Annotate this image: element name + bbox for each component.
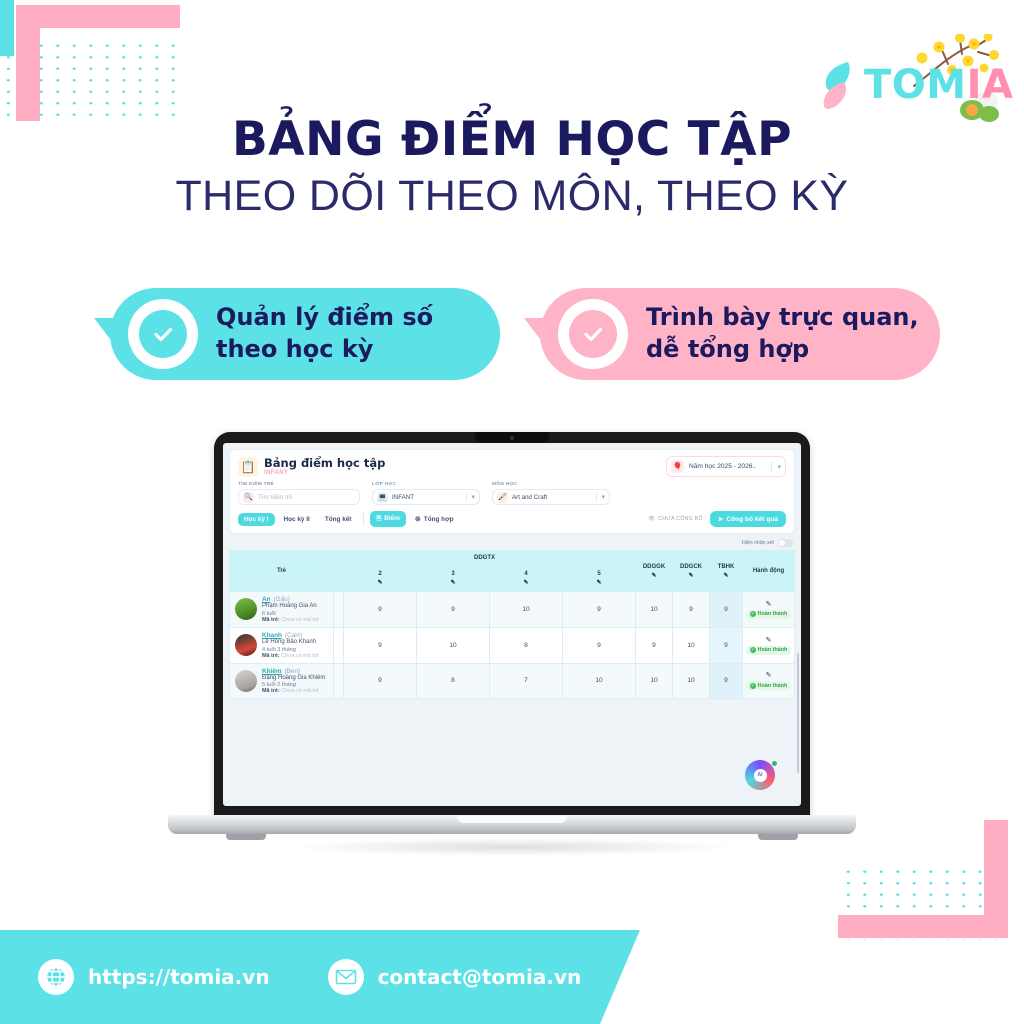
logo-wordmark: TOMIA	[864, 62, 1013, 108]
footer-email[interactable]: contact@tomia.vn	[328, 959, 582, 995]
score-cell-ddgtx-4[interactable]: 8	[490, 627, 563, 663]
child-alias: (Gấu)	[274, 596, 290, 603]
score-cell-ddgtx-2[interactable]: 9	[344, 592, 417, 628]
search-icon: 🔍	[243, 492, 254, 503]
eye-off-icon: 👁	[648, 516, 655, 522]
score-cell-ddgck[interactable]: 9	[673, 592, 710, 628]
col-header-ddgtx-4: 4 ✎	[490, 566, 563, 592]
decor-bar-bottom-horizontal	[838, 915, 1008, 938]
laptop-foot-left	[226, 834, 266, 840]
score-cell-ddgtx-4[interactable]: 10	[490, 592, 563, 628]
calendar-icon: 🎈	[671, 460, 684, 473]
footer-website-text: https://tomia.vn	[88, 965, 270, 989]
score-cell-ddgtx-3[interactable]: 10	[417, 627, 490, 663]
status-badge-label: Hoàn thành	[758, 611, 788, 617]
filter-row: TÌM KIẾM TRẺ 🔍 Tìm kiếm trẻ LỚP HỌC 💻 IN…	[238, 482, 786, 505]
decor-bar-top-horizontal	[16, 5, 180, 28]
edit-icon[interactable]: ✎	[638, 572, 670, 579]
check-circle-icon: ✓	[750, 647, 756, 653]
child-code-value: Chưa có mã trẻ	[281, 688, 318, 694]
logo-text-part2: IA	[967, 62, 1014, 108]
score-cell-clipped[interactable]	[334, 592, 344, 628]
show-comments-row: Hiện nhận xét	[229, 539, 793, 547]
score-cell-ddgck[interactable]: 10	[673, 663, 710, 699]
laptop-lid: 📋 Bảng điểm học tập INFANT 🎈 Năm học 202…	[214, 432, 810, 822]
check-badge-2	[558, 299, 628, 369]
class-select[interactable]: 💻 INFANT ▾	[372, 489, 480, 505]
laptop-foot-right	[758, 834, 798, 840]
edit-icon[interactable]: ✎	[712, 572, 740, 579]
child-nickname-row: An(Gấu)	[262, 596, 319, 603]
tab-divider	[363, 513, 364, 525]
show-comments-toggle[interactable]	[778, 539, 793, 547]
child-cell: Khanh(Cam) Lê Hồng Bảo Khanh 4 tuổi 3 th…	[230, 627, 334, 663]
score-cell-ddgtx-3[interactable]: 9	[417, 592, 490, 628]
action-cell: ✎ ✓ Hoàn thành	[743, 592, 795, 628]
subject-select-value: Art and Craft	[512, 494, 592, 501]
status-badge-label: Hoàn thành	[758, 683, 788, 689]
edit-icon[interactable]: ✎	[745, 636, 792, 644]
grade-table-head: Trẻ DDGTX DDGGK ✎ DDGCK ✎ TBHK	[230, 551, 795, 592]
score-cell-ddggk[interactable]: 10	[636, 663, 673, 699]
decor-teal-accent-top-left	[0, 0, 14, 56]
table-row[interactable]: An(Gấu) Phạm Hoàng Gia An 6 tuổi Mã trẻ:…	[230, 592, 795, 628]
publish-button-label: Công bố kết quả	[726, 516, 778, 523]
app-window: 📋 Bảng điểm học tập INFANT 🎈 Năm học 202…	[223, 443, 801, 705]
filter-label-class: LỚP HỌC	[372, 482, 480, 487]
feature-2-line1: Trình bày trực quan,	[646, 302, 919, 334]
select-divider	[596, 492, 597, 502]
app-header-row: 📋 Bảng điểm học tập INFANT 🎈 Năm học 202…	[238, 456, 786, 477]
laptop-base	[168, 815, 856, 834]
avatar	[235, 670, 257, 692]
app-header-card: 📋 Bảng điểm học tập INFANT 🎈 Năm học 202…	[229, 449, 795, 534]
score-cell-ddggk[interactable]: 9	[636, 627, 673, 663]
tab-summary-final[interactable]: Tổng kết	[319, 513, 358, 526]
clipboard-icon: 📋	[238, 457, 258, 477]
col-header-ddgck: DDGCK ✎	[673, 551, 710, 592]
filter-subject: MÔN HỌC 🖌 Art and Craft ▾	[492, 482, 610, 505]
child-nickname-link[interactable]: An	[262, 596, 271, 603]
footer-email-text: contact@tomia.vn	[378, 965, 582, 989]
child-code-label: Mã trẻ:	[262, 653, 280, 659]
feature-pill-1: Quản lý điểm số theo học kỳ	[110, 288, 500, 380]
col-header-ddgtx-2-label: 2	[378, 571, 381, 577]
score-cell-clipped[interactable]	[334, 663, 344, 699]
pill-tail-1	[94, 318, 120, 352]
score-cell-ddgtx-5[interactable]: 9	[563, 627, 636, 663]
class-select-value: INFANT	[392, 494, 462, 501]
col-header-ddgtx-5-label: 5	[597, 571, 600, 577]
status-badge: ✓ Hoàn thành	[746, 610, 792, 619]
mail-icon	[328, 959, 364, 995]
tab-bar: Học kỳ I Học kỳ II Tổng kết Điểm Tổng hợ…	[238, 511, 460, 527]
chevron-down-icon[interactable]: ▾	[471, 493, 475, 501]
school-year-select[interactable]: 🎈 Năm học 2025 - 2026.. ▾	[666, 456, 786, 477]
child-nickname-row: Khanh(Cam)	[262, 632, 319, 639]
show-comments-label: Hiện nhận xét	[742, 540, 774, 546]
feature-2-line2: dễ tổng hợp	[646, 334, 919, 366]
table-header-row-1: Trẻ DDGTX DDGGK ✎ DDGCK ✎ TBHK	[230, 551, 795, 566]
col-header-ddggk-label: DDGGK	[643, 564, 665, 570]
score-cell-ddgtx-3[interactable]: 8	[417, 663, 490, 699]
tab-and-publish-row: Học kỳ I Học kỳ II Tổng kết Điểm Tổng hợ…	[238, 511, 786, 527]
child-code-value: Chưa có mã trẻ	[281, 617, 318, 623]
col-header-ddgtx-5: 5 ✎	[563, 566, 636, 592]
col-header-tbhk-label: TBHK	[718, 564, 735, 570]
decor-bar-bottom-vertical	[984, 820, 1008, 938]
search-input-placeholder: Tìm kiếm trẻ	[258, 494, 292, 501]
col-header-tbhk: TBHK ✎	[710, 551, 743, 592]
vertical-scrollbar[interactable]	[797, 653, 800, 773]
score-cell-ddgtx-2[interactable]: 9	[344, 627, 417, 663]
check-circle-icon: ✓	[750, 611, 756, 617]
footer-website[interactable]: https://tomia.vn	[38, 959, 270, 995]
check-circle-icon: ✓	[750, 683, 756, 689]
score-cell-ddgtx-5[interactable]: 9	[563, 592, 636, 628]
headline-secondary: THEO DÕI THEO MÔN, THEO KỲ	[0, 172, 1024, 221]
child-code-label: Mã trẻ:	[262, 688, 280, 694]
filter-class: LỚP HỌC 💻 INFANT ▾	[372, 482, 480, 505]
avatar	[235, 634, 257, 656]
col-header-ddgtx-3-label: 3	[451, 571, 454, 577]
child-cell: Khiêm(Ben) Đặng Hoàng Gia Khiêm 5 tuổi 2…	[230, 663, 334, 699]
laptop-shadow	[288, 838, 738, 856]
child-nickname-link[interactable]: Khiêm	[262, 668, 282, 675]
child-nickname-row: Khiêm(Ben)	[262, 668, 325, 675]
tab-semester-1[interactable]: Học kỳ I	[238, 513, 275, 526]
child-cell: An(Gấu) Phạm Hoàng Gia An 6 tuổi Mã trẻ:…	[230, 592, 334, 628]
tab-aggregate[interactable]: Tổng hợp	[409, 512, 460, 526]
app-subtitle: INFANT	[264, 470, 385, 476]
chevron-down-icon[interactable]: ▾	[777, 463, 781, 471]
score-cell-ddgck[interactable]: 10	[673, 627, 710, 663]
publish-results-button[interactable]: ➤ Công bố kết quả	[710, 511, 786, 527]
subject-select[interactable]: 🖌 Art and Craft ▾	[492, 489, 610, 505]
col-header-ddgtx-3: 3 ✎	[417, 566, 490, 592]
child-nickname-link[interactable]: Khanh	[262, 632, 282, 639]
footer-bar: https://tomia.vn contact@tomia.vn	[0, 930, 1024, 1024]
check-icon-1	[139, 310, 187, 358]
col-header-ddgtx-2: 2 ✎	[344, 566, 417, 592]
score-cell-ddgtx-5[interactable]: 10	[563, 663, 636, 699]
decor-bar-top-vertical	[16, 5, 40, 121]
send-icon: ➤	[718, 515, 724, 523]
tab-semester-2[interactable]: Học kỳ II	[278, 513, 316, 526]
col-header-ddgtx-4-label: 4	[524, 571, 527, 577]
tab-scores[interactable]: Điểm	[370, 511, 405, 527]
edit-icon[interactable]: ✎	[565, 579, 633, 586]
child-code: Mã trẻ: Chưa có mã trẻ	[262, 653, 319, 659]
child-fullname: Lê Hồng Bảo Khanh	[262, 639, 319, 647]
score-cell-ddgtx-4[interactable]: 7	[490, 663, 563, 699]
feature-1-line1: Quản lý điểm số	[216, 302, 433, 334]
child-code-label: Mã trẻ:	[262, 617, 280, 623]
filter-label-subject: MÔN HỌC	[492, 482, 610, 487]
score-cell-ddgtx-2[interactable]: 9	[344, 663, 417, 699]
action-cell: ✎ ✓ Hoàn thành	[743, 663, 795, 699]
score-cell-tbhk: 9	[710, 663, 743, 699]
score-cell-ddggk[interactable]: 10	[636, 592, 673, 628]
logo-text-part1: TOM	[864, 62, 967, 108]
child-fullname: Phạm Hoàng Gia An	[262, 603, 319, 611]
child-alias: (Ben)	[285, 668, 301, 675]
edit-icon[interactable]: ✎	[346, 579, 414, 586]
child-code: Mã trẻ: Chưa có mã trẻ	[262, 688, 325, 694]
select-divider	[771, 462, 772, 472]
edit-icon[interactable]: ✎	[419, 579, 487, 586]
grade-table: Trẻ DDGTX DDGGK ✎ DDGCK ✎ TBHK	[229, 550, 795, 699]
feature-pill-2-text: Trình bày trực quan, dễ tổng hợp	[646, 302, 919, 365]
pill-tail-2	[524, 318, 550, 352]
school-year-value: Năm học 2025 - 2026..	[689, 463, 766, 470]
headline-primary: BẢNG ĐIỂM HỌC TẬP	[0, 112, 1024, 167]
status-badge: ✓ Hoàn thành	[746, 681, 792, 690]
col-header-ddggk: DDGGK ✎	[636, 551, 673, 592]
col-header-action: Hành động	[743, 551, 795, 592]
avatar	[235, 598, 257, 620]
publish-status-label: CHƯA CÔNG BỐ	[658, 516, 703, 522]
select-divider	[466, 492, 467, 502]
publish-row: 👁 CHƯA CÔNG BỐ ➤ Công bố kết quả	[648, 511, 786, 527]
edit-icon[interactable]: ✎	[492, 579, 560, 586]
laptop-notch-camera	[475, 432, 549, 443]
ai-assistant-button[interactable]	[745, 760, 775, 790]
status-badge: ✓ Hoàn thành	[746, 646, 792, 655]
ai-online-indicator	[772, 761, 777, 766]
feature-pill-1-text: Quản lý điểm số theo học kỳ	[216, 302, 433, 365]
child-code-value: Chưa có mã trẻ	[281, 653, 318, 659]
laptop-mockup: 📋 Bảng điểm học tập INFANT 🎈 Năm học 202…	[168, 432, 856, 862]
app-title: Bảng điểm học tập	[264, 457, 385, 470]
table-row[interactable]: Khiêm(Ben) Đặng Hoàng Gia Khiêm 5 tuổi 2…	[230, 663, 795, 699]
edit-icon[interactable]: ✎	[745, 671, 792, 679]
col-header-group-ddgtx: DDGTX	[334, 551, 636, 566]
publish-status: 👁 CHƯA CÔNG BỐ	[648, 516, 703, 522]
edit-icon[interactable]: ✎	[745, 600, 792, 608]
action-cell: ✎ ✓ Hoàn thành	[743, 627, 795, 663]
feature-pill-row: Quản lý điểm số theo học kỳ Trình bày tr…	[0, 288, 1024, 388]
check-badge-1	[128, 299, 198, 369]
col-header-child: Trẻ	[230, 551, 334, 592]
filter-search-child: TÌM KIẾM TRẺ 🔍 Tìm kiếm trẻ	[238, 482, 360, 505]
subject-icon: 🖌	[497, 492, 508, 503]
search-input[interactable]: 🔍 Tìm kiếm trẻ	[238, 489, 360, 505]
score-cell-tbhk: 9	[710, 592, 743, 628]
score-cell-clipped[interactable]	[334, 627, 344, 663]
score-cell-tbhk: 9	[710, 627, 743, 663]
globe-icon	[38, 959, 74, 995]
col-header-ddgtx-clipped	[334, 566, 344, 592]
app-brand: 📋 Bảng điểm học tập INFANT	[238, 457, 385, 477]
feature-pill-2: Trình bày trực quan, dễ tổng hợp	[540, 288, 940, 380]
laptop-screen: 📋 Bảng điểm học tập INFANT 🎈 Năm học 202…	[223, 443, 801, 806]
child-code: Mã trẻ: Chưa có mã trẻ	[262, 617, 319, 623]
table-row[interactable]: Khanh(Cam) Lê Hồng Bảo Khanh 4 tuổi 3 th…	[230, 627, 795, 663]
grade-table-body: An(Gấu) Phạm Hoàng Gia An 6 tuổi Mã trẻ:…	[230, 592, 795, 699]
chevron-down-icon[interactable]: ▾	[601, 493, 605, 501]
class-icon: 💻	[377, 492, 388, 503]
child-alias: (Cam)	[285, 632, 303, 639]
col-header-ddgck-label: DDGCK	[680, 564, 702, 570]
feature-1-line2: theo học kỳ	[216, 334, 433, 366]
status-badge-label: Hoàn thành	[758, 647, 788, 653]
check-icon-2	[569, 310, 617, 358]
edit-icon[interactable]: ✎	[675, 572, 707, 579]
filter-label-search: TÌM KIẾM TRẺ	[238, 482, 360, 487]
tomia-leaf-icon	[818, 60, 862, 110]
